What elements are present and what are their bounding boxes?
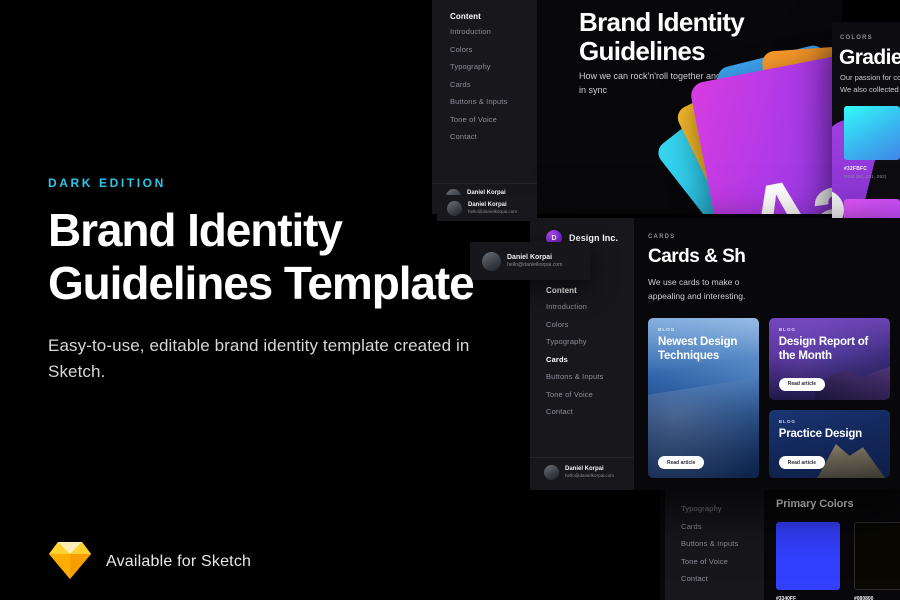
sidebar-item-buttons-inputs[interactable]: Buttons & Inputs <box>546 372 603 381</box>
type-cards-fan-graphic: Aa <box>655 50 842 214</box>
blog-card-eyebrow: BLOG <box>779 419 880 424</box>
sidebar-item-tone-of-voice[interactable]: Tone of Voice <box>450 115 507 124</box>
blog-card-title: Design Report of the Month <box>779 336 880 364</box>
sidebar-item-tone-of-voice[interactable]: Tone of Voice <box>546 390 603 399</box>
blog-card-header: BLOG Newest Design Techniques <box>658 327 749 364</box>
gradients-sub-line1: Our passion for color. <box>840 73 900 82</box>
gradients-subtitle: Our passion for color. We also collected <box>840 72 900 97</box>
blog-card-header: BLOG Design Report of the Month <box>779 327 880 364</box>
sketch-diamond-icon <box>48 540 92 584</box>
primary-hex-black: #080800 <box>854 596 900 600</box>
sidebar-item-colors[interactable]: Colors <box>546 320 603 329</box>
sidebar-item-cards[interactable]: Cards <box>450 80 507 89</box>
sidebar-item-typography[interactable]: Typography <box>546 337 603 346</box>
sidebar-item-contact[interactable]: Contact <box>546 407 603 416</box>
sidebar-item-contact[interactable]: Contact <box>450 132 507 141</box>
guidelines-body: Brand Identity Guidelines How we can roc… <box>537 0 842 214</box>
type-sample-aa: Aa <box>737 155 842 214</box>
read-article-button[interactable]: Read article <box>779 378 825 391</box>
sidebar-item-buttons-inputs[interactable]: Buttons & Inputs <box>681 539 738 548</box>
author-name: Daniel Korpai <box>565 465 614 473</box>
sidebar-nav: Introduction Colors Typography Cards But… <box>450 27 507 141</box>
page-title-line1: Brand Identity <box>48 204 342 256</box>
gradients-eyebrow: COLORS <box>840 35 873 41</box>
blog-card-eyebrow: BLOG <box>658 327 749 332</box>
sidebar-item-introduction[interactable]: Introduction <box>450 27 507 36</box>
primary-chip-blue <box>776 522 840 590</box>
primary-chip-black <box>854 522 900 590</box>
sidebar-item-cards[interactable]: Cards <box>546 355 603 364</box>
gradient-rgb-cyan: RGB (50, 251, 252) <box>844 174 900 179</box>
blog-card-title: Practice Design <box>779 428 880 442</box>
sidebar-heading-clipped: Colors <box>681 490 703 499</box>
sidebar-item-colors[interactable]: Colors <box>450 45 507 54</box>
blog-card-title: Newest Design Techniques <box>658 336 749 364</box>
promo-subtitle: Easy-to-use, editable brand identity tem… <box>48 333 518 386</box>
primary-color-swatches: #3340FF RGB (51, 64, 255) #080800 RGB (8… <box>776 522 900 600</box>
gradient-hex-cyan: #32FBFC <box>844 166 900 172</box>
promo-block: DARK EDITION Brand Identity Guidelines T… <box>48 176 518 385</box>
sidebar-heading: Content <box>546 286 577 295</box>
blog-card-newest-design[interactable]: BLOG Newest Design Techniques Read artic… <box>648 318 759 478</box>
screenshot-stage: Content Introduction Colors Typography C… <box>0 0 900 600</box>
read-article-button[interactable]: Read article <box>658 456 704 469</box>
fan-card-main-purple: Aa <box>689 46 842 214</box>
guidelines-title-line1: Brand Identity <box>579 7 744 37</box>
primary-sidebar: Colors Typography Cards Buttons & Inputs… <box>665 484 764 600</box>
cards-subtitle: We use cards to make o appealing and int… <box>648 276 833 303</box>
sidebar-nav: Introduction Colors Typography Cards But… <box>546 302 603 416</box>
gradients-sub-line2: We also collected <box>840 85 899 94</box>
primary-hex-blue: #3340FF <box>776 596 840 600</box>
gradient-chip-cyan <box>844 106 900 160</box>
cards-sub-line2: appealing and interesting. <box>648 291 745 301</box>
promo-footer-label: Available for Sketch <box>106 553 251 571</box>
page-title: Brand Identity Guidelines Template <box>48 204 518 311</box>
mockup-panel-primary-colors: Colors Typography Cards Buttons & Inputs… <box>660 484 900 600</box>
gradients-title: Gradients <box>839 46 900 70</box>
sidebar-author: Daniel Korpai hello@danielkorpai.com <box>544 465 614 480</box>
promo-footer: Available for Sketch <box>48 540 251 584</box>
cards-eyebrow: CARDS <box>648 234 888 240</box>
promo-eyebrow: DARK EDITION <box>48 176 518 190</box>
blog-card-practice-design[interactable]: BLOG Practice Design Read article <box>769 410 890 478</box>
cards-title: Cards & Sh <box>648 246 888 268</box>
author-email: hello@danielkorpai.com <box>565 473 614 479</box>
primary-swatch-blue[interactable]: #3340FF RGB (51, 64, 255) <box>776 522 840 600</box>
primary-swatch-black[interactable]: #080800 RGB (8, 8, 0) <box>854 522 900 600</box>
blog-card-grid: BLOG Newest Design Techniques Read artic… <box>648 318 890 478</box>
sidebar-item-tone-of-voice[interactable]: Tone of Voice <box>681 557 738 566</box>
cards-sub-line1: We use cards to make o <box>648 277 740 287</box>
sidebar-divider <box>530 457 634 458</box>
sidebar-item-typography[interactable]: Typography <box>450 62 507 71</box>
blog-card-eyebrow: BLOG <box>779 327 880 332</box>
sidebar-item-cards[interactable]: Cards <box>681 522 738 531</box>
gradient-swatch-cyan[interactable]: #32FBFC RGB (50, 251, 252) <box>844 106 900 179</box>
primary-colors-body: Primary Colors #3340FF RGB (51, 64, 255)… <box>764 484 900 600</box>
avatar <box>544 465 559 480</box>
sidebar-item-typography[interactable]: Typography <box>681 504 738 513</box>
blog-card-design-report[interactable]: BLOG Design Report of the Month Read art… <box>769 318 890 400</box>
read-article-button[interactable]: Read article <box>779 456 825 469</box>
sidebar-heading: Content <box>450 12 481 21</box>
sidebar-nav: Typography Cards Buttons & Inputs Tone o… <box>681 504 738 583</box>
page-title-line2: Guidelines Template <box>48 257 474 309</box>
sidebar-item-introduction[interactable]: Introduction <box>546 302 603 311</box>
blog-card-header: BLOG Practice Design <box>779 419 880 442</box>
primary-colors-title: Primary Colors <box>776 498 900 510</box>
sidebar-item-buttons-inputs[interactable]: Buttons & Inputs <box>450 97 507 106</box>
sidebar-item-contact[interactable]: Contact <box>681 574 738 583</box>
